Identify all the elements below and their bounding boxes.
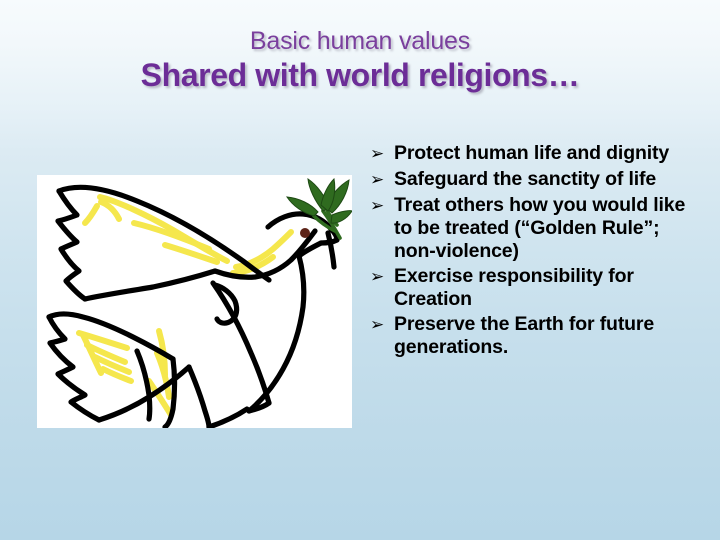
list-item-text: Exercise responsibility for Creation: [394, 265, 705, 311]
list-item-text: Safeguard the sanctity of life: [394, 168, 705, 191]
arrowhead-bullet-icon: ➢: [369, 265, 394, 289]
dove-eye: [300, 228, 310, 238]
slide-canvas: Basic human values Shared with world rel…: [0, 0, 720, 540]
list-item-text: Treat others how you would like to be tr…: [394, 194, 705, 263]
list-item-text: Protect human life and dignity: [394, 142, 705, 165]
list-item: ➢ Safeguard the sanctity of life: [369, 168, 705, 192]
dove-with-olive-branch-icon: [37, 175, 352, 428]
list-item: ➢ Exercise responsibility for Creation: [369, 265, 705, 311]
arrowhead-bullet-icon: ➢: [369, 168, 394, 192]
title-line-1: Basic human values: [0, 26, 720, 56]
arrowhead-bullet-icon: ➢: [369, 142, 394, 166]
list-item: ➢ Preserve the Earth for future generati…: [369, 313, 705, 359]
arrowhead-bullet-icon: ➢: [369, 194, 394, 218]
arrowhead-bullet-icon: ➢: [369, 313, 394, 337]
title-line-2: Shared with world religions…: [0, 56, 720, 94]
list-item: ➢ Protect human life and dignity: [369, 142, 705, 166]
slide-title: Basic human values Shared with world rel…: [0, 26, 720, 94]
bullet-list: ➢ Protect human life and dignity ➢ Safeg…: [369, 142, 705, 361]
dove-image-frame: [37, 175, 352, 428]
list-item-text: Preserve the Earth for future generation…: [394, 313, 705, 359]
list-item: ➢ Treat others how you would like to be …: [369, 194, 705, 263]
